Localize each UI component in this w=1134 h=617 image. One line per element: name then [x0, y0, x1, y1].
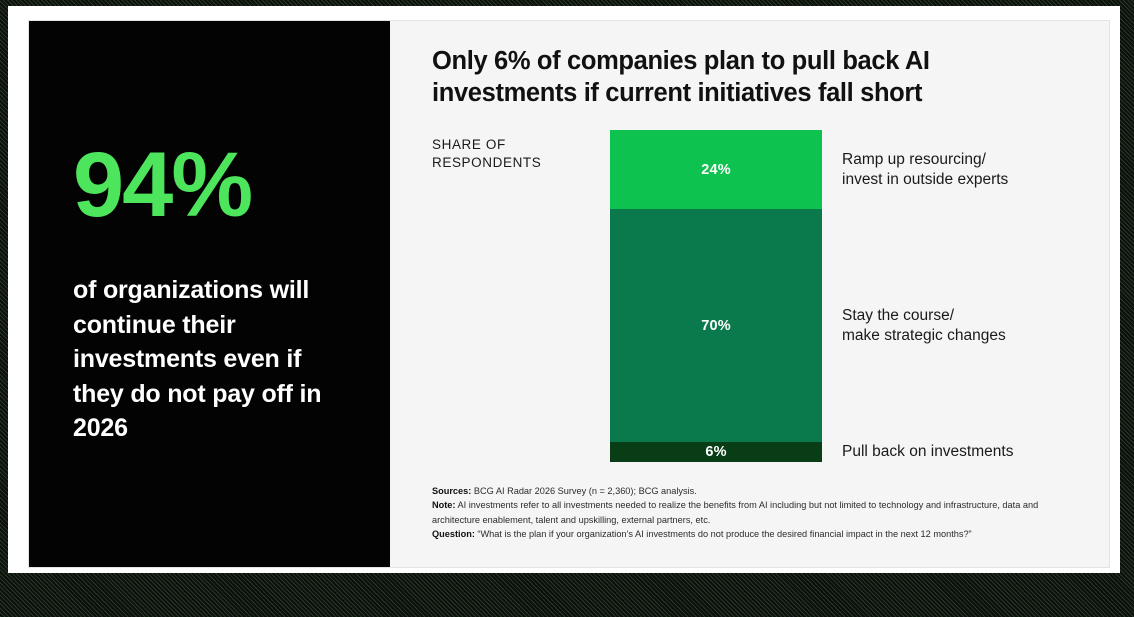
big-stat-value: 94%	[73, 139, 348, 231]
footnote-question: Question: “What is the plan if your orga…	[432, 527, 1072, 541]
bar-segment-stay-the-course[interactable]: 70% Stay the course/ make strategic chan…	[610, 209, 822, 441]
stacked-bar-column: 24% Ramp up resourcing/ invest in outsid…	[610, 130, 822, 462]
footnote-note-label: Note:	[432, 500, 455, 510]
page-title: Only 6% of companies plan to pull back A…	[432, 45, 1032, 110]
footnote-question-label: Question:	[432, 529, 475, 539]
bar-segment-label: Ramp up resourcing/ invest in outside ex…	[842, 150, 1008, 189]
footnotes: Sources: BCG AI Radar 2026 Survey (n = 2…	[432, 484, 1072, 541]
left-stat-panel: 94% of organizations will continue their…	[29, 21, 390, 567]
right-content-panel: Only 6% of companies plan to pull back A…	[390, 21, 1109, 567]
paper-background: 94% of organizations will continue their…	[8, 6, 1120, 573]
footnote-sources-label: Sources:	[432, 486, 471, 496]
footnote-sources-text: BCG AI Radar 2026 Survey (n = 2,360); BC…	[471, 486, 696, 496]
bar-segment-value: 6%	[705, 444, 726, 460]
bar-segment-label-line1: Ramp up resourcing/	[842, 151, 986, 168]
bar-segment-label: Pull back on investments	[842, 442, 1013, 461]
slide-card: 94% of organizations will continue their…	[28, 20, 1110, 568]
stacked-bar-chart: SHARE OF RESPONDENTS 24% Ramp up resourc…	[432, 136, 1059, 476]
footnote-sources: Sources: BCG AI Radar 2026 Survey (n = 2…	[432, 484, 1072, 498]
bar-segment-pull-back[interactable]: 6% Pull back on investments	[610, 442, 822, 462]
bar-segment-label-line1: Stay the course/	[842, 307, 954, 324]
footnote-note: Note: AI investments refer to all invest…	[432, 498, 1072, 527]
image-frame: 94% of organizations will continue their…	[0, 0, 1134, 617]
chart-axis-caption: SHARE OF RESPONDENTS	[432, 136, 562, 172]
bar-segment-value: 24%	[701, 162, 731, 178]
bar-segment-label-line2: make strategic changes	[842, 327, 1006, 344]
big-stat-statement: of organizations will continue their inv…	[73, 273, 341, 446]
footnote-question-text: “What is the plan if your organization’s…	[475, 529, 972, 539]
bar-segment-label: Stay the course/ make strategic changes	[842, 306, 1006, 345]
footnote-note-text: AI investments refer to all investments …	[432, 500, 1038, 524]
bar-segment-value: 70%	[701, 318, 731, 334]
bar-segment-label-line2: invest in outside experts	[842, 171, 1008, 188]
bar-segment-ramp-up[interactable]: 24% Ramp up resourcing/ invest in outsid…	[610, 130, 822, 210]
